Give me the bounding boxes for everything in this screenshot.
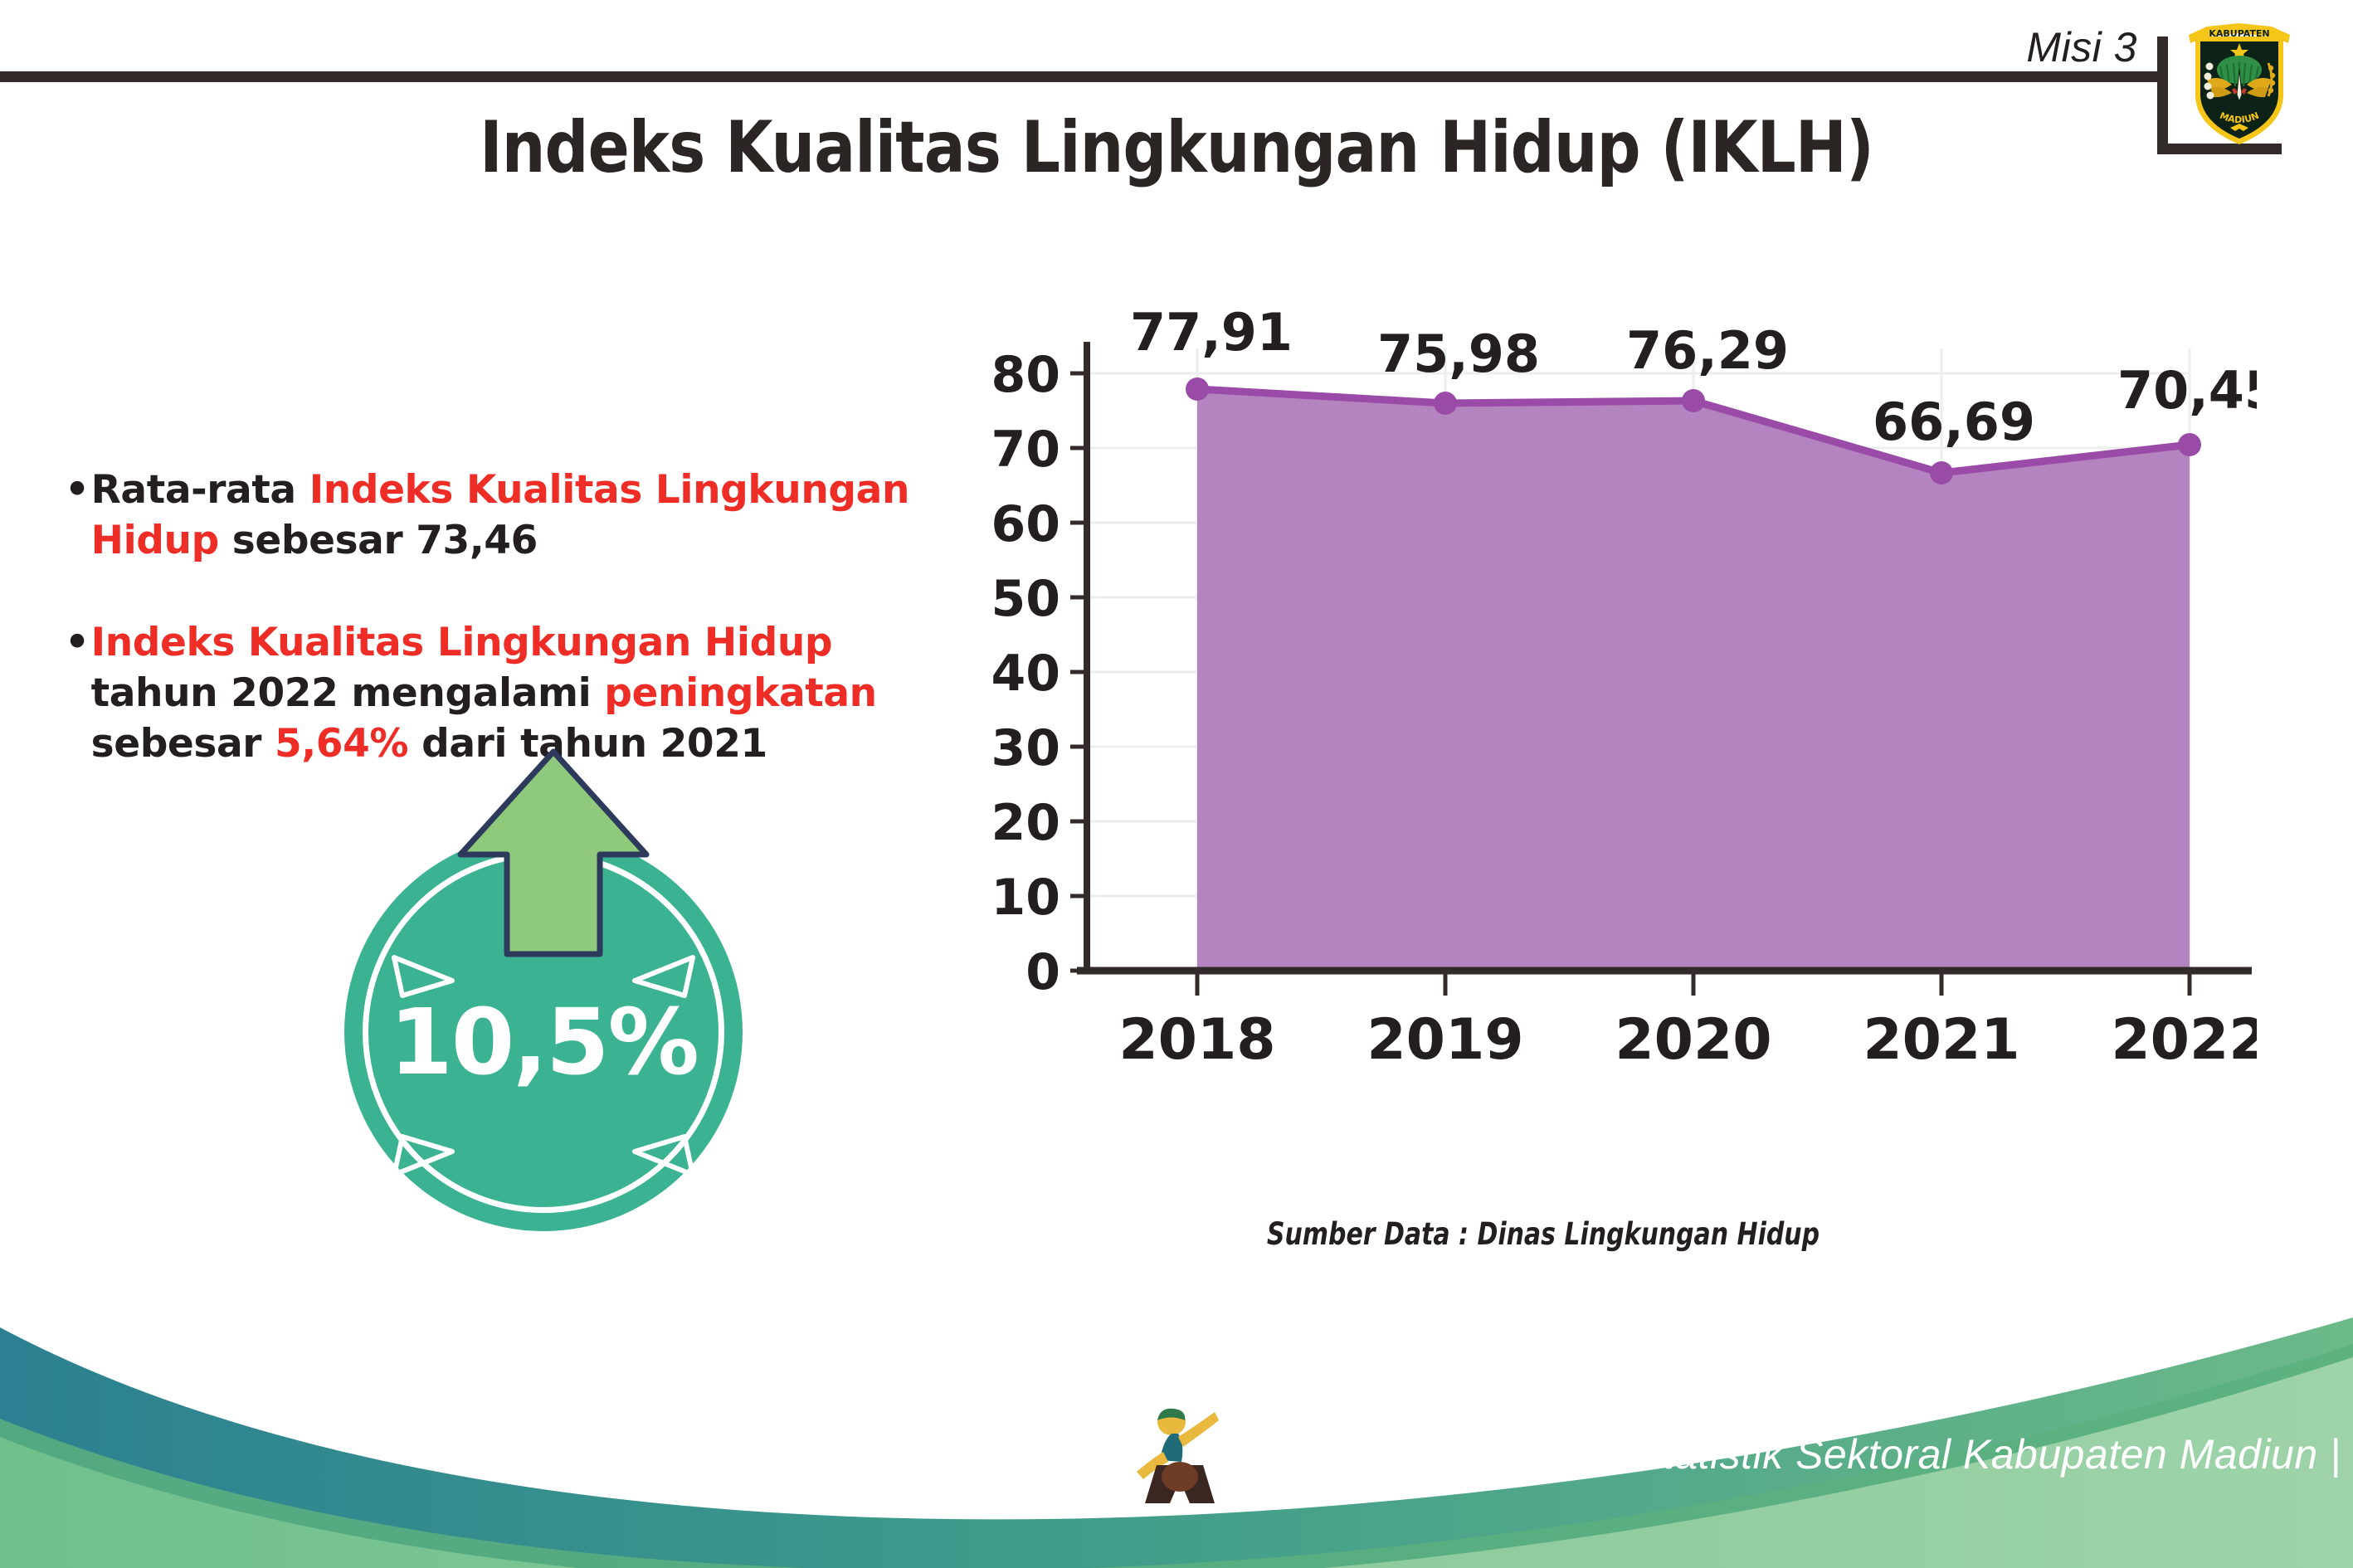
- increase-badge: 10,5%: [328, 747, 776, 1211]
- chart-x-tick-labels: 2018 2019 2020 2021 2022: [1118, 1007, 2257, 1073]
- svg-text:2020: 2020: [1615, 1007, 1771, 1073]
- header-rule: [0, 71, 2165, 82]
- svg-text:80: 80: [991, 346, 1061, 404]
- svg-text:2018: 2018: [1118, 1007, 1275, 1073]
- bullet-segment: Rata-rata: [91, 467, 309, 513]
- svg-text:50: 50: [991, 570, 1061, 628]
- iklh-area-chart: 0 10 20 30 40 50 60 70 80 2018 2019 2020…: [962, 299, 2257, 1170]
- svg-text:2022: 2022: [2111, 1007, 2257, 1073]
- svg-text:2021: 2021: [1863, 1007, 2019, 1073]
- badge-value: 10,5%: [328, 989, 759, 1095]
- svg-text:30: 30: [991, 719, 1061, 777]
- kabupaten-madiun-crest-icon: KABUPATEN MADIUN: [2182, 15, 2297, 148]
- svg-text:70,45: 70,45: [2117, 360, 2257, 421]
- bullet-segment: tahun 2022 mengalami: [91, 670, 605, 716]
- page-title: Indeks Kualitas Lingkungan Hidup (IKLH): [165, 106, 2189, 189]
- bullet-segment-highlight: Indeks Kualitas Lingkungan Hidup: [91, 620, 833, 665]
- bullet-segment: sebesar: [91, 721, 275, 767]
- footer-band: Media Infografis Data Statistik Sektoral…: [0, 1294, 2353, 1568]
- bullet-segment-highlight: peningkatan: [604, 670, 876, 716]
- bullet-marker: •: [65, 617, 90, 668]
- svg-text:10: 10: [991, 869, 1061, 927]
- crest-top-text: KABUPATEN: [2209, 28, 2269, 39]
- chart-area-fill: [1197, 389, 2190, 971]
- bullet-text-1: Rata-rata Indeks Kualitas Lingkungan Hid…: [91, 465, 961, 566]
- svg-text:76,29: 76,29: [1626, 320, 1789, 381]
- bullet-segment: sebesar 73,46: [219, 518, 538, 563]
- svg-text:2019: 2019: [1366, 1007, 1523, 1073]
- svg-text:77,91: 77,91: [1130, 302, 1293, 363]
- chart-source-caption: Sumber Data : Dinas Lingkungan Hidup: [1021, 1216, 2066, 1252]
- misi-label: Misi 3: [2026, 23, 2137, 71]
- svg-text:70: 70: [991, 421, 1061, 479]
- statistics-person-icon: [1135, 1400, 1225, 1508]
- chart-y-tick-labels: 0 10 20 30 40 50 60 70 80: [991, 346, 1061, 1001]
- svg-text:60: 60: [991, 495, 1061, 553]
- bullet-marker: •: [65, 465, 90, 515]
- list-item: • Rata-rata Indeks Kualitas Lingkungan H…: [65, 465, 961, 566]
- svg-text:0: 0: [1025, 943, 1060, 1001]
- svg-text:20: 20: [991, 794, 1061, 852]
- insights-list: • Rata-rata Indeks Kualitas Lingkungan H…: [65, 465, 961, 769]
- svg-text:75,98: 75,98: [1377, 324, 1540, 384]
- footer-caption: Media Infografis Data Statistik Sektoral…: [1220, 1430, 2341, 1478]
- svg-text:66,69: 66,69: [1873, 392, 2035, 452]
- svg-text:40: 40: [991, 645, 1061, 703]
- up-arrow-icon: [454, 747, 653, 962]
